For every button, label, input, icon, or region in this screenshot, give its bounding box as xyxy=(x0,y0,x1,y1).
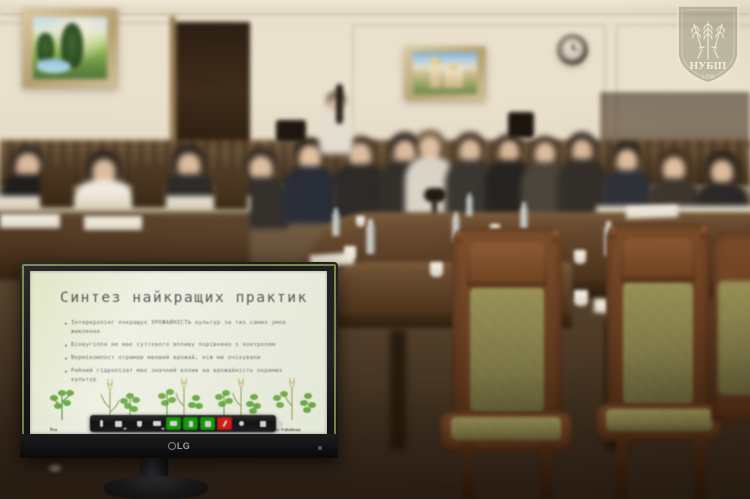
shield-icon xyxy=(137,421,142,427)
crop-label: Pea xyxy=(50,427,57,432)
videoconference-toolbar[interactable] xyxy=(90,415,276,432)
chair-back xyxy=(40,168,74,208)
more-options-button[interactable] xyxy=(272,417,287,430)
monitor-screen[interactable]: Синтез найкращих практик Інтеркропінг по… xyxy=(30,271,327,434)
monitor-chin: LG xyxy=(20,434,338,458)
grid-icon xyxy=(260,421,266,427)
wall-clock xyxy=(557,34,588,65)
monitor-stand xyxy=(104,476,208,499)
doorway-left xyxy=(176,22,250,148)
tripod-camera xyxy=(508,112,534,138)
microphone-icon xyxy=(100,420,103,427)
chair-back xyxy=(214,170,248,210)
painting-canvas xyxy=(413,52,477,94)
raised-arm xyxy=(336,84,343,124)
nubip-emblem: НУБІП 1898 xyxy=(674,2,742,86)
chair-back xyxy=(132,166,166,208)
microphone-head xyxy=(424,188,446,202)
crop-group-fababean xyxy=(154,376,204,420)
cathedral-painting xyxy=(404,46,486,100)
presentation-slide: Синтез найкращих практик Інтеркропінг по… xyxy=(30,271,327,434)
emoji-icon xyxy=(239,421,244,426)
slide-title: Синтез найкращих практик xyxy=(60,290,311,306)
water-bottle xyxy=(366,224,375,254)
share-screen-icon xyxy=(189,421,193,427)
pen-icon xyxy=(222,420,227,427)
clock-face xyxy=(563,40,583,60)
tripod-camera xyxy=(276,120,306,142)
paper-cup xyxy=(430,262,443,277)
document-sheet xyxy=(0,214,60,228)
chat-button[interactable] xyxy=(166,417,181,430)
water-bottle xyxy=(332,212,340,236)
armchair xyxy=(606,224,710,420)
emblem-acronym: НУБІП xyxy=(690,60,727,72)
slide-bullet: Інтеркропінг покращує УРОЖАЙНІСТЬ культу… xyxy=(64,319,311,337)
armchair xyxy=(712,232,750,422)
slide-bullet: Біовугілля не має суттєвого впливу порів… xyxy=(64,341,311,350)
crop-group-pea-barley xyxy=(212,376,262,420)
chevron-up-icon xyxy=(123,428,127,430)
paper-cup xyxy=(356,216,365,227)
lg-ring-icon xyxy=(168,442,176,450)
chat-icon xyxy=(170,421,177,426)
painting-canvas xyxy=(33,17,108,79)
camera-button[interactable] xyxy=(111,417,126,430)
armchair-leg xyxy=(694,436,706,499)
chevron-up-icon xyxy=(161,428,165,430)
participants-button[interactable] xyxy=(149,417,164,430)
conference-room-photo: НУБІП 1898 Синтез найкращих практик Інте… xyxy=(0,0,750,499)
reactions-button[interactable] xyxy=(234,417,249,430)
share-screen-button[interactable] xyxy=(183,417,198,430)
annotate-button[interactable] xyxy=(217,417,232,430)
document-sheet xyxy=(626,205,678,219)
armchair-leg xyxy=(616,436,628,499)
water-bottle xyxy=(466,196,473,216)
paper-cup xyxy=(574,290,588,306)
landscape-painting xyxy=(22,8,118,88)
microphone-button[interactable] xyxy=(94,417,109,430)
armchair-leg xyxy=(540,444,552,499)
record-icon xyxy=(205,421,211,427)
table-leg xyxy=(390,330,406,450)
emblem-year: 1898 xyxy=(702,73,715,80)
power-led xyxy=(318,446,322,450)
crop-group-pea xyxy=(46,376,96,420)
armchair-seat xyxy=(440,412,572,452)
armchair-leg xyxy=(462,444,474,499)
crop-group-barley xyxy=(98,376,148,420)
desk-highlight xyxy=(46,462,64,474)
slide-bullet: Вермікомпост отримав менший врожай, ніж … xyxy=(64,354,311,363)
apps-button[interactable] xyxy=(255,417,270,430)
paper-cup xyxy=(574,250,586,264)
record-button[interactable] xyxy=(200,417,215,430)
people-icon xyxy=(153,421,161,426)
ellipsis-icon xyxy=(277,421,283,427)
water-bottle xyxy=(520,206,528,230)
lg-monitor[interactable]: Синтез найкращих практик Інтеркропінг по… xyxy=(20,262,338,458)
crop-group-pea-barley-fababean xyxy=(270,376,320,420)
lg-brand-text: LG xyxy=(177,441,190,451)
armchair xyxy=(452,228,562,428)
camera-icon xyxy=(115,421,122,427)
document-sheet xyxy=(84,216,142,230)
security-button[interactable] xyxy=(132,417,147,430)
lg-brand-logo: LG xyxy=(168,441,190,451)
